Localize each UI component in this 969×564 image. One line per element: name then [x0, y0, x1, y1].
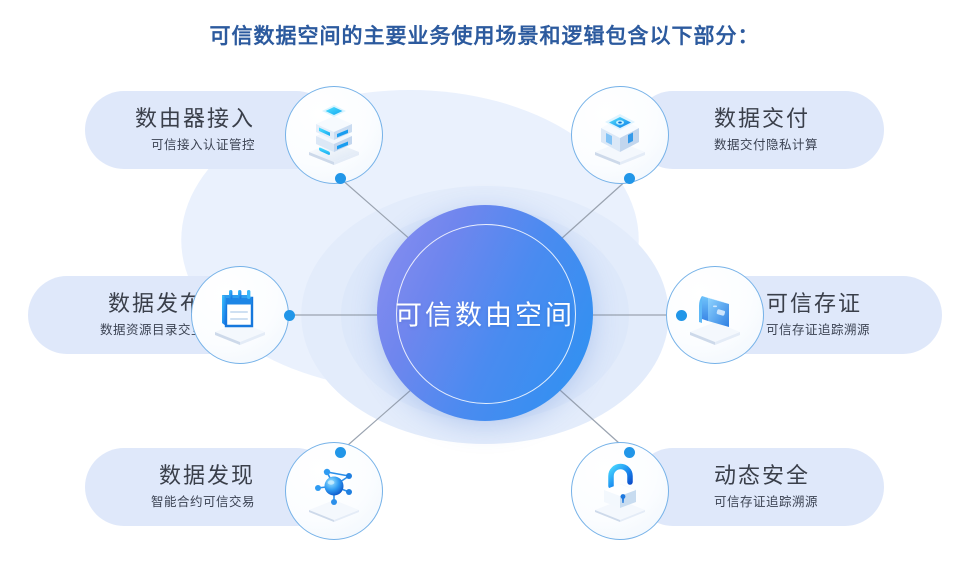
- center-hub[interactable]: 可信数由空间: [377, 205, 593, 421]
- connector-dot: [624, 447, 635, 458]
- icon-bubble-router-access[interactable]: [285, 86, 383, 184]
- connector-dot: [284, 310, 295, 321]
- diagram-canvas: 可信数据空间的主要业务使用场景和逻辑包含以下部分： 数由器接入 可信接入认证管控…: [0, 0, 969, 564]
- node-card-dynamic-security[interactable]: 动态安全 可信存证追踪溯源: [634, 448, 884, 526]
- connector-dot: [676, 310, 687, 321]
- node-subtitle: 可信存证追踪溯源: [714, 495, 818, 511]
- node-card-data-delivery[interactable]: 数据交付 数据交付隐私计算: [634, 91, 884, 169]
- connector-dot: [335, 447, 346, 458]
- node-title: 数据发现: [151, 463, 255, 491]
- icon-bubble-data-delivery[interactable]: [571, 86, 669, 184]
- book-icon: [682, 282, 748, 348]
- server-stack-icon: [301, 102, 367, 168]
- calendar-clipboard-icon: [207, 282, 273, 348]
- node-subtitle: 智能合约可信交易: [151, 495, 255, 511]
- node-subtitle: 数据资源目录交互: [100, 323, 204, 339]
- cube-chip-icon: [587, 102, 653, 168]
- node-title: 数由器接入: [135, 106, 255, 134]
- node-subtitle: 可信存证追踪溯源: [766, 323, 870, 339]
- node-subtitle: 可信接入认证管控: [135, 138, 255, 154]
- node-subtitle: 数据交付隐私计算: [714, 138, 818, 154]
- padlock-icon: [587, 458, 653, 524]
- node-title: 可信存证: [766, 291, 870, 319]
- center-hub-label: 可信数由空间: [377, 294, 593, 333]
- network-node-icon: [301, 458, 367, 524]
- icon-bubble-data-publish[interactable]: [191, 266, 289, 364]
- node-title: 数据发布: [100, 291, 204, 319]
- connector-dot: [624, 173, 635, 184]
- icon-bubble-dynamic-security[interactable]: [571, 442, 669, 540]
- connector-dot: [335, 173, 346, 184]
- node-title: 数据交付: [714, 106, 818, 134]
- icon-bubble-data-discovery[interactable]: [285, 442, 383, 540]
- node-title: 动态安全: [714, 463, 818, 491]
